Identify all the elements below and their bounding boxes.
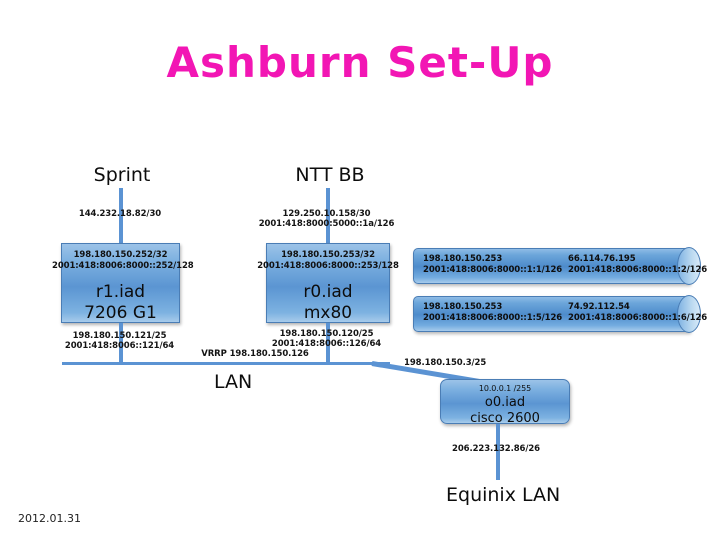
lan-label: LAN	[214, 371, 252, 393]
tunnel-cylinder-1[interactable]: 198.180.150.253 2001:418:8006:8000::1:1/…	[413, 248, 701, 284]
router-r1-loopback-v6: 2001:418:8006:8000::252/128	[52, 261, 189, 272]
tunnel-cylinder-2[interactable]: 198.180.150.253 2001:418:8006:8000::1:5/…	[413, 296, 701, 332]
label-r1-lan-v6: 2001:418:8006::121/64	[57, 341, 182, 352]
router-o0-model: cisco 2600	[441, 411, 569, 427]
label-r1-lan-v4: 198.180.150.121/25	[57, 331, 182, 342]
tunnel-1-remote-v4: 66.114.76.195	[568, 254, 636, 265]
router-o0-name: o0.iad	[441, 395, 569, 411]
page-title: Ashburn Set-Up	[0, 38, 720, 87]
tunnel-2-local-v4: 198.180.150.253	[423, 302, 502, 313]
provider-label-ntt: NTT BB	[268, 164, 392, 186]
router-node-r1[interactable]: 198.180.150.252/32 2001:418:8006:8000::2…	[61, 243, 180, 323]
router-o0-mgmt-ip: 10.0.0.1 /255	[441, 384, 569, 394]
router-r1-name: r1.iad	[62, 282, 179, 303]
router-r0-loopback-v4: 198.180.150.253/32	[267, 250, 389, 261]
tunnel-2-remote-v4: 74.92.112.54	[568, 302, 630, 313]
label-sprint-uplink-ipv4: 144.232.18.82/30	[58, 209, 182, 220]
tunnel-1-local-v6: 2001:418:8006:8000::1:1/126	[423, 265, 562, 276]
label-ntt-uplink-ipv4: 129.250.10.158/30	[254, 209, 399, 220]
label-o0-downlink-v4: 206.223.132.86/26	[435, 444, 557, 455]
label-vrrp: VRRP 198.180.150.126	[180, 349, 330, 360]
date-stamp: 2012.01.31	[18, 512, 81, 525]
slide-canvas: Ashburn Set-Up Sprint NTT BB 144.232.18.…	[0, 0, 720, 540]
router-r0-loopback-v6: 2001:418:8006:8000::253/128	[257, 261, 399, 272]
label-r0-lan-v6: 2001:418:8006::126/64	[264, 339, 389, 350]
equinix-lan-label: Equinix LAN	[446, 484, 560, 506]
lan-bus-line	[62, 362, 390, 365]
provider-label-sprint: Sprint	[62, 164, 182, 186]
router-r0-name: r0.iad	[267, 282, 389, 303]
tunnel-2-remote-v6: 2001:418:8006:8000::1:6/126	[568, 313, 707, 324]
label-ntt-uplink-ipv6: 2001:418:8000:5000::1a/126	[254, 219, 399, 230]
router-r1-loopback-v4: 198.180.150.252/32	[62, 250, 179, 261]
router-node-o0[interactable]: 10.0.0.1 /255 o0.iad cisco 2600	[440, 379, 570, 424]
router-node-r0[interactable]: 198.180.150.253/32 2001:418:8006:8000::2…	[266, 243, 390, 323]
router-r1-model: 7206 G1	[62, 303, 179, 324]
tunnel-2-local-v6: 2001:418:8006:8000::1:5/126	[423, 313, 562, 324]
tunnel-1-remote-v6: 2001:418:8006:8000::1:2/126	[568, 265, 707, 276]
label-o0-uplink-v4: 198.180.150.3/25	[404, 358, 494, 369]
router-r0-model: mx80	[267, 303, 389, 324]
label-r0-lan-v4: 198.180.150.120/25	[264, 329, 389, 340]
tunnel-1-local-v4: 198.180.150.253	[423, 254, 502, 265]
